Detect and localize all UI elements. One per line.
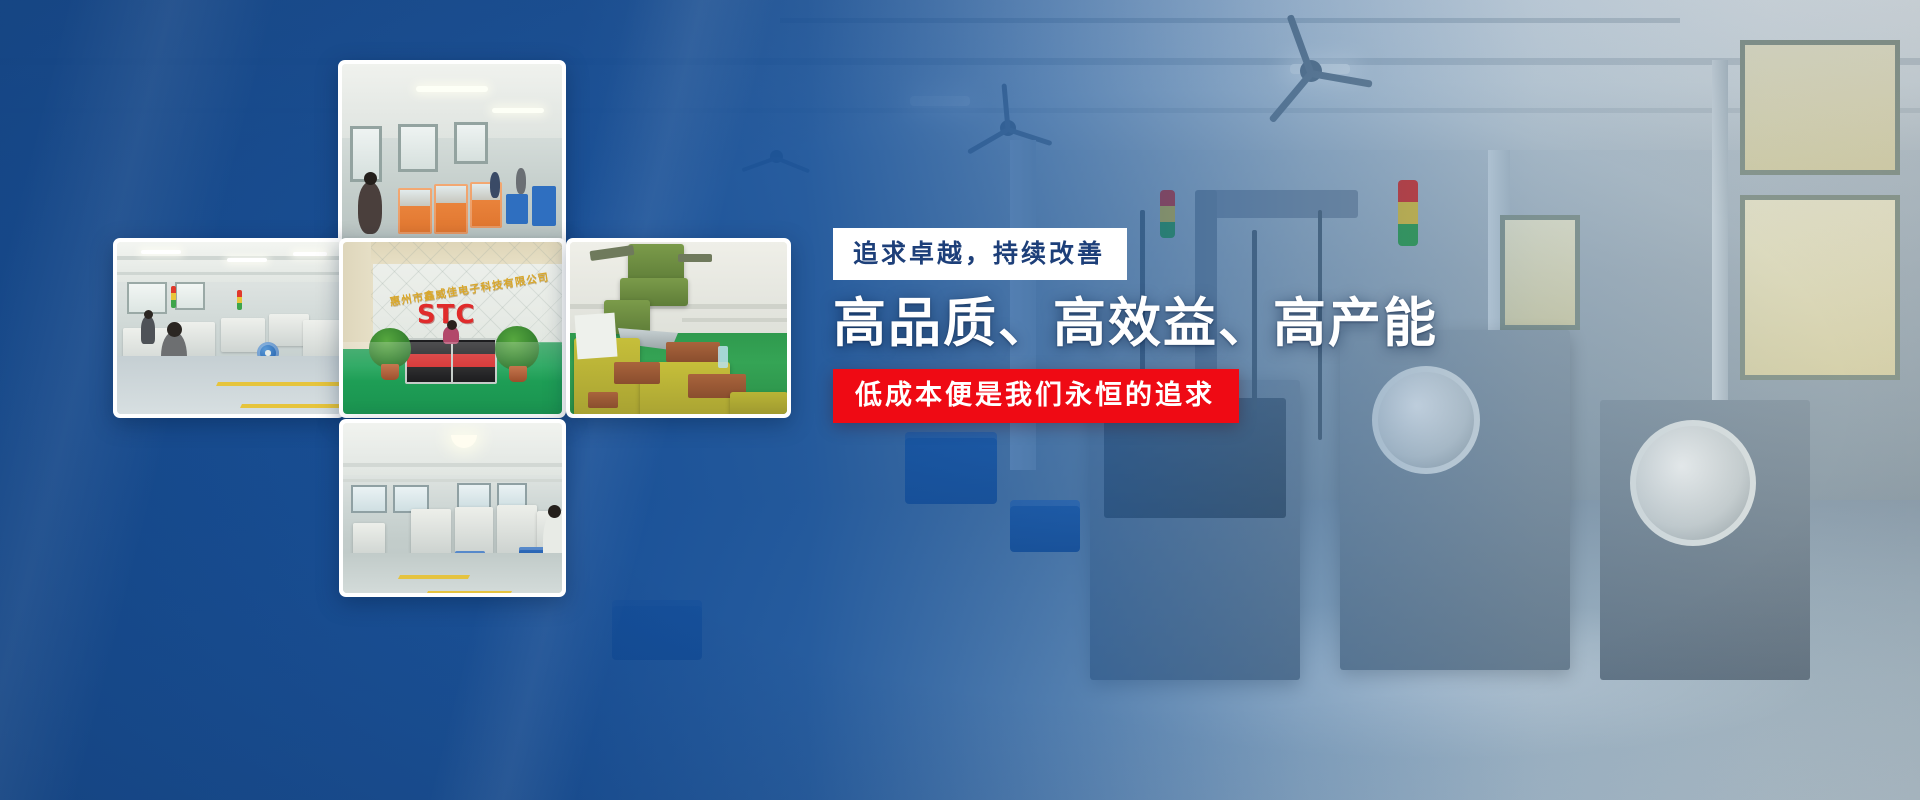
collage-photo-left[interactable] [113,238,345,418]
andon-light-tower [171,286,176,308]
wall-ledge [682,318,787,322]
assembly-machine [411,509,451,555]
collage-photo-right[interactable] [566,238,791,418]
workshop-window [175,282,205,310]
collage-photo-center[interactable]: 惠州市鑫威佳电子科技有限公司 STC CO. LTD [339,238,566,418]
photo-machine-workshop [117,242,341,414]
banner-text-block: 追求卓越，持续改善 高品质、高效益、高产能 低成本便是我们永恒的追求 [833,228,1393,423]
light-green [171,300,176,308]
yellow-machine-base [730,392,787,414]
worker-head [167,322,182,337]
water-bottle [718,346,728,368]
workstation-cubicle [398,188,432,234]
light-red [171,286,176,293]
light-red [237,290,242,297]
worker [358,182,382,234]
floor-line-yellow [398,575,470,579]
light-tube [141,250,181,254]
hall-window [454,122,488,164]
line-window [351,485,387,513]
floor-line-yellow [240,404,341,408]
collage-photo-bottom[interactable] [339,419,566,597]
metal-fixture [614,362,660,384]
andon-light-tower [237,290,242,310]
worker-head [144,310,153,319]
receptionist-head [447,320,457,330]
banner-headline: 高品质、高效益、高产能 [833,294,1393,353]
machine-arm [678,254,712,262]
floor-line-yellow [216,382,341,386]
hall-window [398,124,438,172]
worker-head [364,172,377,185]
workstation-cubicle [434,184,468,234]
machine [532,186,556,226]
ceiling-beam [343,479,562,482]
metal-fixture [588,392,618,408]
ceiling-beam [117,272,341,275]
promo-banner: 惠州市鑫威佳电子科技有限公司 STC CO. LTD [0,0,1920,800]
tagline-bottom: 低成本便是我们永恒的追求 [833,369,1239,423]
light-green [237,303,242,310]
light-yellow [171,293,176,300]
worker-head [548,505,561,518]
lobby-side-wall [343,242,373,349]
light-tube [416,86,488,92]
photo-reception-lobby: 惠州市鑫威佳电子科技有限公司 STC CO. LTD [343,242,562,414]
floor-line-yellow [426,591,512,593]
photo-milling-machinery [570,242,787,414]
light-tube [492,108,544,113]
line-floor [343,553,562,593]
workshop-ceiling [117,242,341,282]
metal-fixture [666,342,720,362]
light-tube [227,258,267,262]
worker [490,172,500,198]
photo-assembly-line [343,423,562,593]
line-ceiling [343,423,562,475]
worker [141,316,155,344]
paper-sheet [575,313,618,360]
line-window [457,483,491,509]
machine [506,194,528,224]
machine [303,320,341,360]
tagline-top: 追求卓越，持续改善 [833,228,1127,280]
ceiling-beam [343,463,562,467]
light-tube [293,252,327,256]
worker [516,168,526,194]
floor-reflection [343,342,562,414]
assembly-machine [455,507,493,555]
